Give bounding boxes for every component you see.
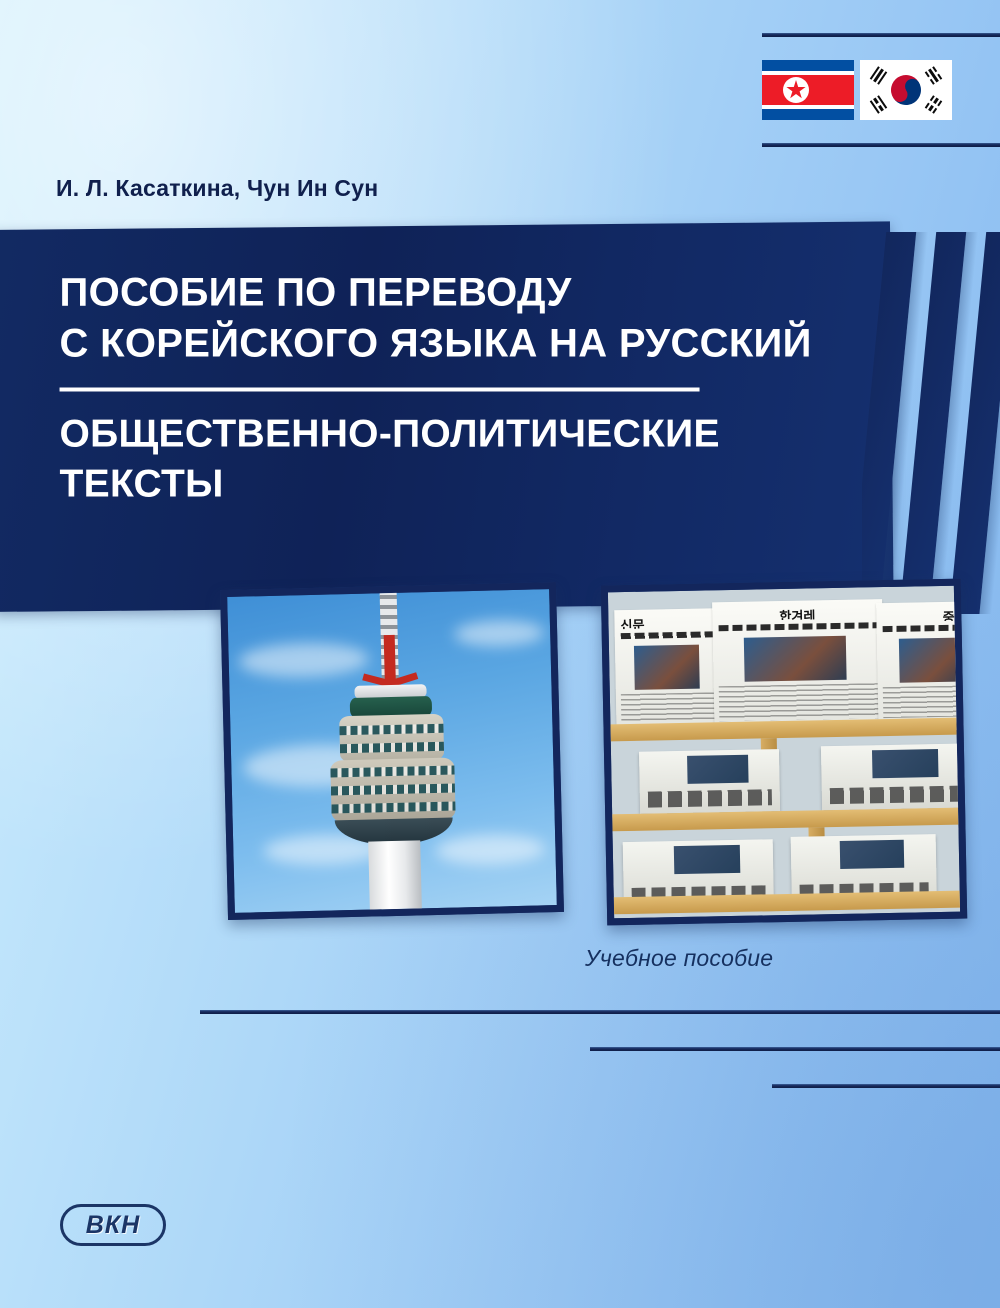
tower-lower-deck [330, 757, 455, 822]
tower-window-row [340, 742, 444, 754]
title-band: ПОСОБИЕ ПО ПЕРЕВОДУ С КОРЕЙСКОГО ЯЗЫКА Н… [0, 221, 894, 612]
newspaper-text-columns [621, 692, 720, 721]
newspaper-masthead: 신문 [620, 613, 716, 629]
newspaper-text-columns [883, 685, 967, 718]
taeguk-icon [885, 69, 926, 110]
newspaper-headline-bar [621, 631, 717, 639]
tower-shaft [368, 840, 422, 909]
subtitle-line-1: ОБЩЕСТВЕННО-ПОЛИТИЧЕСКИЕ [60, 410, 860, 459]
trigram-ri-icon [870, 95, 888, 114]
top-rule-below-flags [762, 143, 1000, 147]
trigram-gam-icon [925, 66, 943, 85]
lower-rule-1 [200, 1010, 1000, 1014]
diagonal-stripes-decoration [862, 232, 1000, 614]
tower-window-row [331, 801, 455, 813]
tower-upper-deck [339, 714, 444, 763]
title-text-block: ПОСОБИЕ ПО ПЕРЕВОДУ С КОРЕЙСКОГО ЯЗЫКА Н… [60, 268, 860, 509]
newspaper-photo-cell [898, 637, 967, 682]
newspaper-photo-cell [743, 636, 846, 682]
page-title-line-2: С КОРЕЙСКОГО ЯЗЫКА НА РУССКИЙ [60, 319, 860, 370]
book-cover: И. Л. Касаткина, Чун Ин Сун ПОСОБИЕ ПО П… [0, 0, 1000, 1308]
cloud [454, 619, 545, 647]
south-korea-flag [860, 60, 952, 120]
newspaper-stack [821, 743, 967, 810]
top-rule-above-flags [762, 33, 1000, 37]
seoul-tower-photo [220, 582, 564, 920]
newsstand-background: 신문 한겨레 중앙일보 [608, 586, 960, 919]
newspaper-front-page: 한겨레 [712, 599, 884, 726]
newspaper-masthead: 중앙일보 [882, 606, 967, 622]
korean-newspapers-photo: 신문 한겨레 중앙일보 [601, 579, 967, 926]
newspaper-photo-cell [634, 645, 700, 690]
lower-rule-3 [772, 1084, 1000, 1088]
cloud [435, 833, 546, 866]
flags-group [762, 60, 952, 120]
publisher-logo-text: ВКН [86, 1211, 140, 1240]
edition-note: Учебное пособие [585, 945, 773, 972]
dprk-white-stripe-bottom [762, 105, 854, 109]
newspaper-headline-bar [719, 622, 877, 631]
title-divider [60, 388, 700, 392]
tower-antenna-red-section [384, 635, 396, 687]
newspaper-front-page: 중앙일보 [876, 601, 967, 723]
newspaper-masthead: 한겨레 [718, 604, 876, 621]
newspaper-stack [639, 749, 780, 814]
trigram-gon-icon [925, 95, 943, 114]
stack-photo [687, 755, 749, 784]
stack-photo [840, 840, 904, 869]
lower-rule-2 [590, 1047, 1000, 1051]
publisher-logo: ВКН [60, 1204, 166, 1246]
sky-background [227, 589, 557, 913]
stack-photo [872, 749, 939, 778]
newspaper-front-page: 신문 [614, 608, 724, 726]
stack-text [648, 789, 772, 807]
stack-photo [674, 845, 741, 874]
author-line: И. Л. Касаткина, Чун Ин Сун [56, 175, 378, 202]
tower-window-row [330, 765, 454, 777]
tower-window-row [339, 724, 443, 736]
trigram-geon-icon [870, 66, 888, 85]
stack-text [830, 786, 964, 805]
page-title-line-1: ПОСОБИЕ ПО ПЕРЕВОДУ [60, 268, 860, 319]
north-korea-flag [762, 60, 854, 120]
newspaper-text-columns [719, 683, 880, 721]
subtitle-line-2: ТЕКСТЫ [60, 459, 860, 508]
tower-window-row [331, 783, 455, 795]
newspaper-headline-bar [883, 624, 968, 632]
cloud [238, 642, 369, 679]
